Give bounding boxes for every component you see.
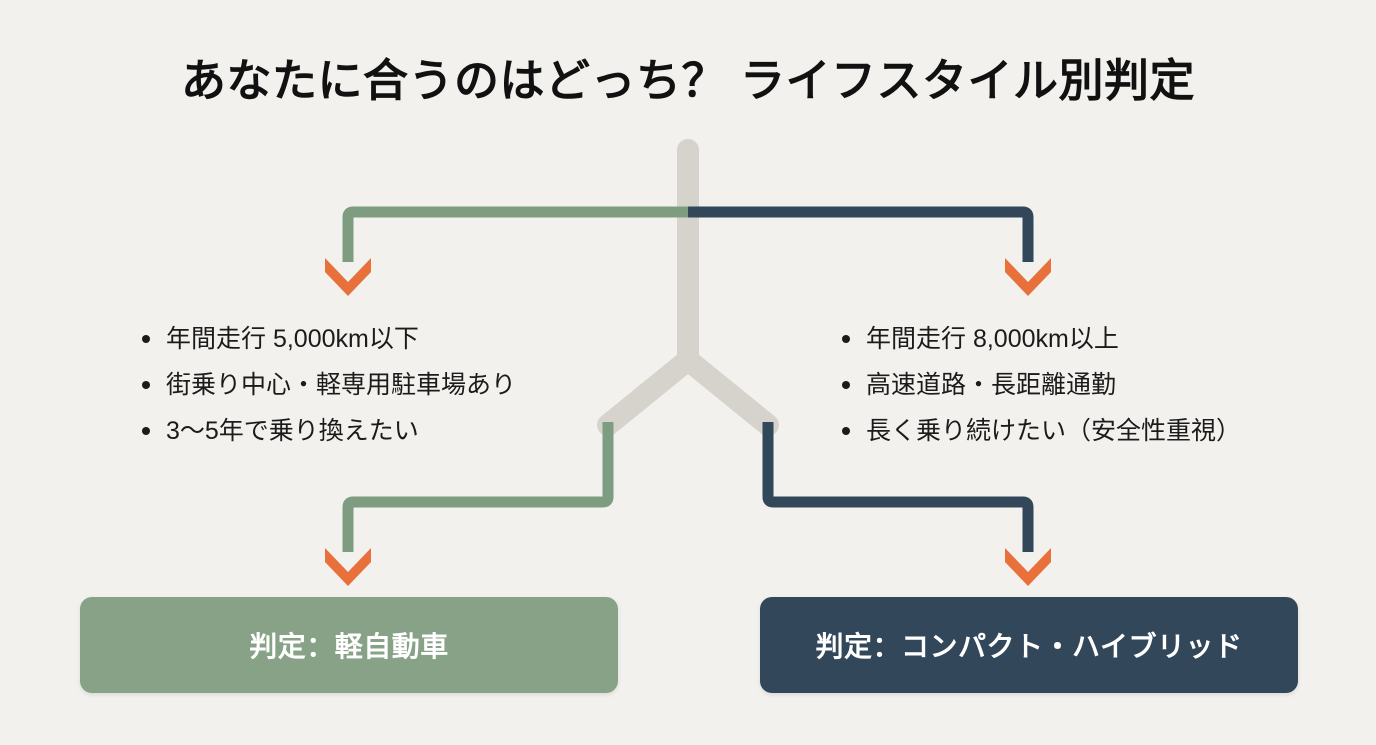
criteria-list-left: 年間走行 5,000km以下 街乗り中心・軽専用駐車場あり 3〜5年で乗り換えた… <box>138 316 516 454</box>
list-item-label: 3〜5年で乗り換えたい <box>166 417 419 445</box>
chevron-down-arrow-bottom-right <box>1005 548 1051 586</box>
result-box-right: 判定：コンパクト・ハイブリッド <box>760 597 1298 693</box>
diagram-canvas: あなたに合うのはどっち？ ライフスタイル別判定 年間走行 5,000km以下 街… <box>0 0 1376 745</box>
chevron-down-arrow-top-left <box>325 258 371 296</box>
list-item-label: 高速道路・長距離通勤 <box>866 371 1116 399</box>
result-box-left: 判定：軽自動車 <box>80 597 618 693</box>
bullet-dot-icon <box>142 381 150 389</box>
list-item-label: 年間走行 5,000km以下 <box>166 325 419 353</box>
chevron-down-arrow-top-right <box>1005 258 1051 296</box>
list-item-label: 街乗り中心・軽専用駐車場あり <box>166 371 516 399</box>
list-item: 年間走行 8,000km以上 <box>838 316 1241 362</box>
list-item: 3〜5年で乗り換えたい <box>138 408 516 454</box>
bullet-dot-icon <box>842 335 850 343</box>
branch-line-right-top <box>688 212 1028 262</box>
page-title: あなたに合うのはどっち？ ライフスタイル別判定 <box>0 44 1376 109</box>
bullet-dot-icon <box>842 381 850 389</box>
bullet-dot-icon <box>842 427 850 435</box>
list-item-label: 年間走行 8,000km以上 <box>866 325 1119 353</box>
criteria-list-right: 年間走行 8,000km以上 高速道路・長距離通勤 長く乗り続けたい（安全性重視… <box>838 316 1241 454</box>
result-box-right-label: 判定：コンパクト・ハイブリッド <box>816 625 1243 665</box>
list-item-label: 長く乗り続けたい（安全性重視） <box>866 417 1241 445</box>
list-item: 年間走行 5,000km以下 <box>138 316 516 362</box>
result-box-left-label: 判定：軽自動車 <box>249 625 449 665</box>
chevron-down-arrow-bottom-left <box>325 548 371 586</box>
bullet-dot-icon <box>142 427 150 435</box>
list-item: 長く乗り続けたい（安全性重視） <box>838 408 1241 454</box>
y-fork-connector <box>608 150 768 425</box>
branch-line-left-top <box>348 212 688 262</box>
list-item: 高速道路・長距離通勤 <box>838 362 1241 408</box>
list-item: 街乗り中心・軽専用駐車場あり <box>138 362 516 408</box>
bullet-dot-icon <box>142 335 150 343</box>
